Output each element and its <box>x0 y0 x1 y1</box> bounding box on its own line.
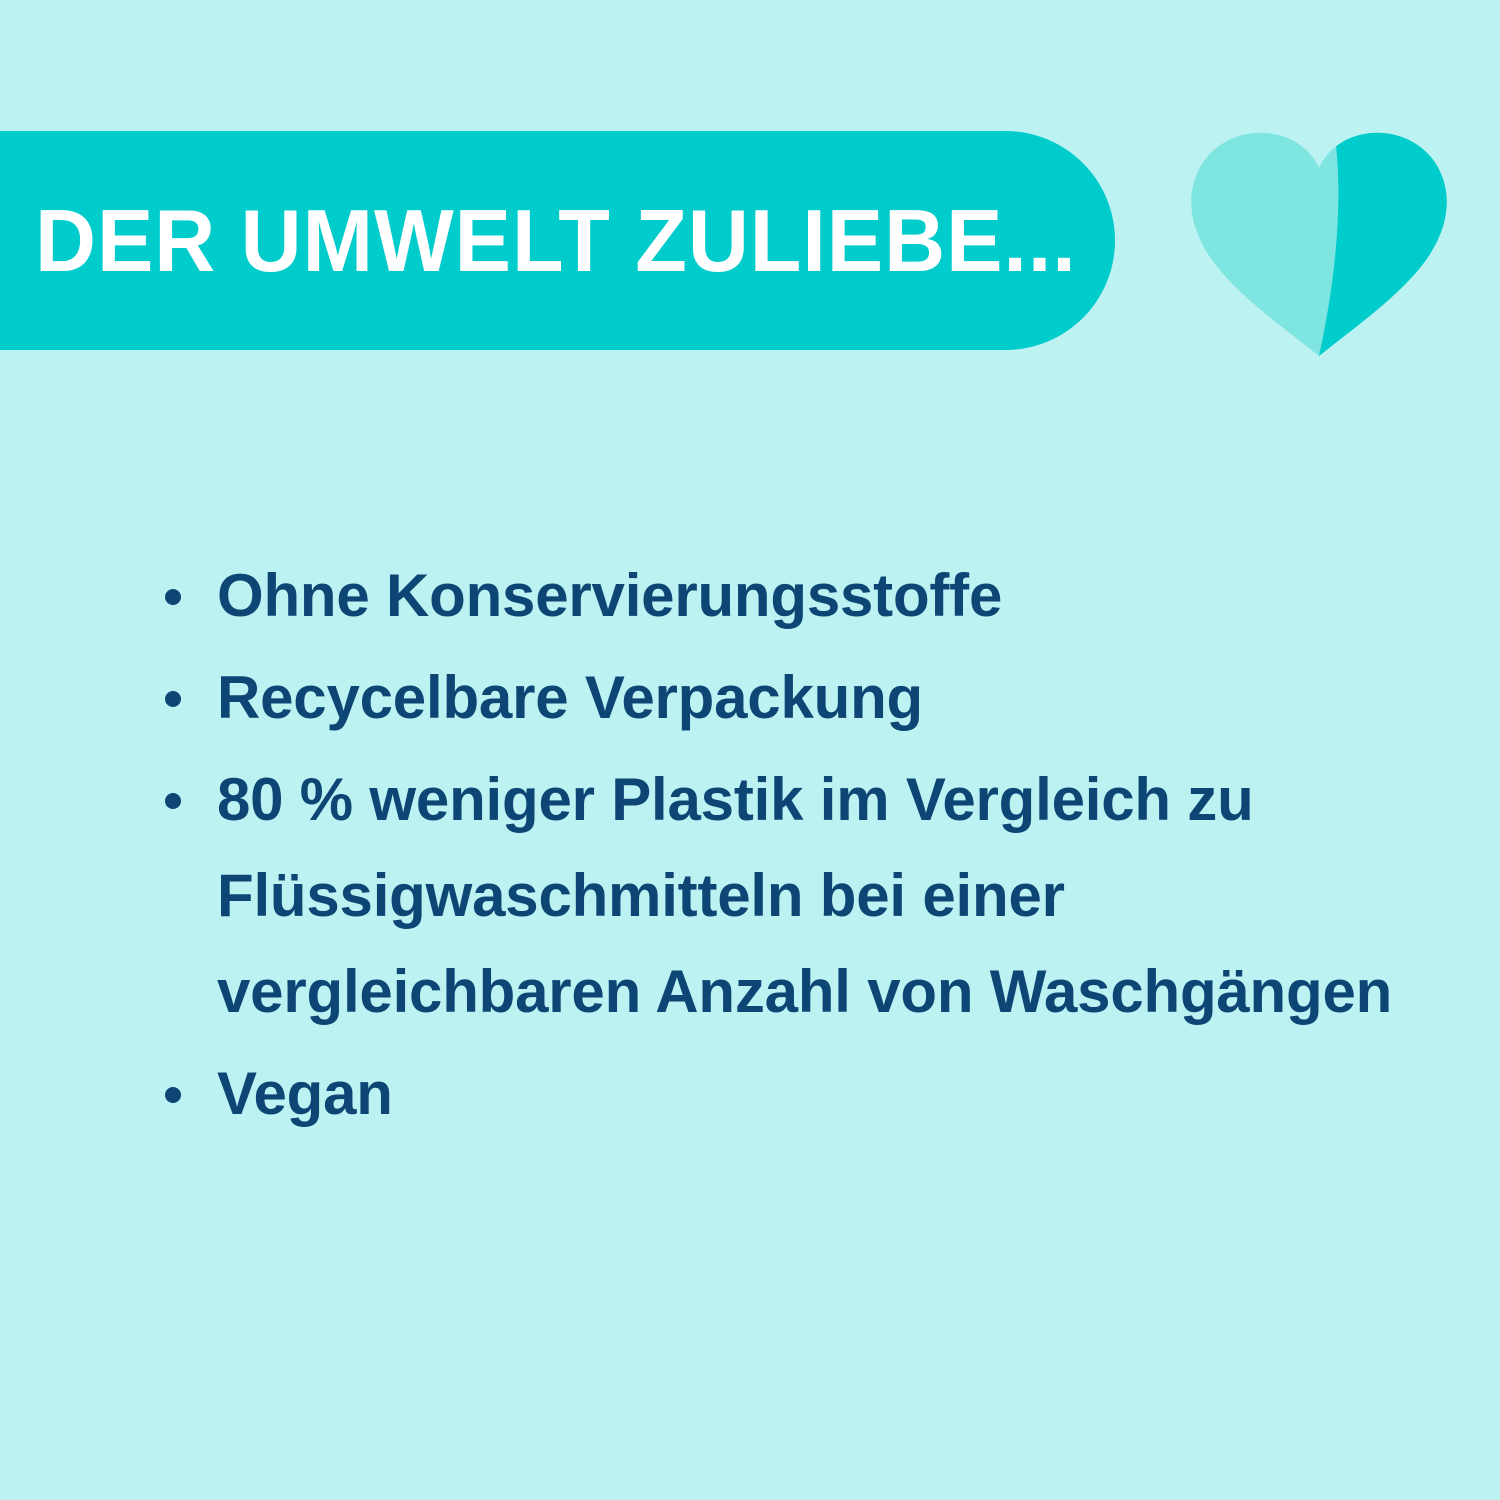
list-item-label: Vegan <box>217 1046 1415 1142</box>
list-item: Recycelbare Verpackung <box>155 650 1415 746</box>
heart-right-half <box>1319 128 1452 356</box>
list-item: Ohne Konservierungsstoffe <box>155 548 1415 644</box>
benefits-list: Ohne Konservierungsstoffe Recycelbare Ve… <box>155 548 1415 1148</box>
bullet-dot-icon <box>165 793 181 809</box>
list-item: 80 % weniger Plastik im Vergleich zu Flü… <box>155 752 1415 1040</box>
list-item-label: Recycelbare Verpackung <box>217 650 1415 746</box>
header-banner: DER UMWELT ZULIEBE... <box>0 131 1115 350</box>
bullet-dot-icon <box>165 691 181 707</box>
list-item-label: 80 % weniger Plastik im Vergleich zu Flü… <box>217 752 1415 1040</box>
two-tone-heart-icon <box>1186 128 1452 356</box>
page-title: DER UMWELT ZULIEBE... <box>35 197 1077 285</box>
list-item-label: Ohne Konservierungsstoffe <box>217 548 1415 644</box>
eco-benefits-graphic: DER UMWELT ZULIEBE... Ohne Konservierung… <box>0 0 1500 1500</box>
bullet-dot-icon <box>165 1087 181 1103</box>
bullet-dot-icon <box>165 589 181 605</box>
list-item: Vegan <box>155 1046 1415 1142</box>
